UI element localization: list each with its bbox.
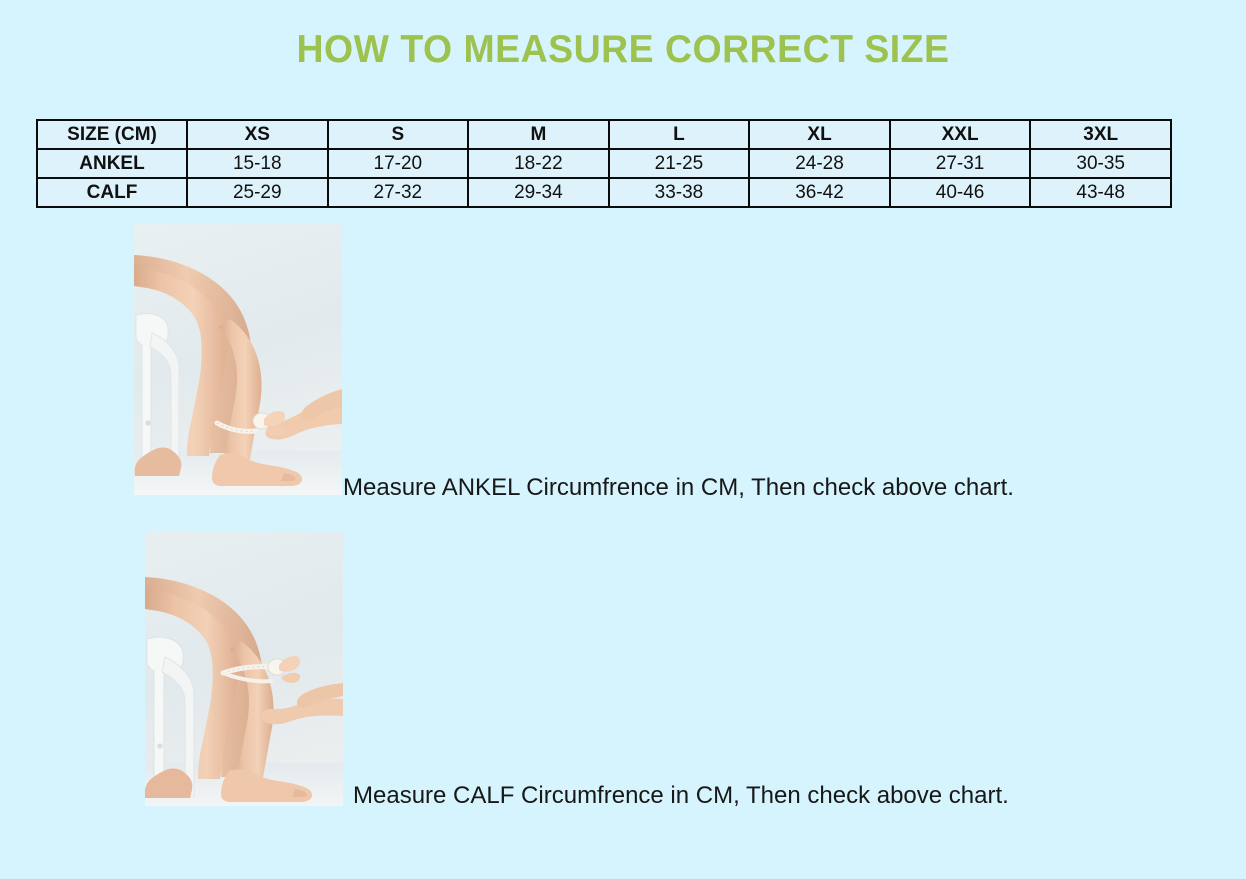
table-row: CALF 25-29 27-32 29-34 33-38 36-42 40-46… bbox=[37, 178, 1171, 207]
cell-calf-3xl: 43-48 bbox=[1030, 178, 1171, 207]
calf-photo-illustration bbox=[145, 531, 343, 806]
calf-measurement-photo bbox=[145, 531, 343, 806]
column-header-s: S bbox=[328, 120, 469, 149]
cell-ankel-xs: 15-18 bbox=[187, 149, 328, 178]
ankle-photo-illustration bbox=[134, 223, 342, 495]
cell-ankel-3xl: 30-35 bbox=[1030, 149, 1171, 178]
cell-calf-m: 29-34 bbox=[468, 178, 609, 207]
column-header-m: M bbox=[468, 120, 609, 149]
column-header-3xl: 3XL bbox=[1030, 120, 1171, 149]
cell-ankel-xl: 24-28 bbox=[749, 149, 890, 178]
table-row: ANKEL 15-18 17-20 18-22 21-25 24-28 27-3… bbox=[37, 149, 1171, 178]
page-title: HOW TO MEASURE CORRECT SIZE bbox=[25, 28, 1221, 72]
column-header-size: SIZE (CM) bbox=[37, 120, 187, 149]
cell-ankel-xxl: 27-31 bbox=[890, 149, 1031, 178]
cell-calf-l: 33-38 bbox=[609, 178, 750, 207]
cell-ankel-s: 17-20 bbox=[328, 149, 469, 178]
ankle-instruction-caption: Measure ANKEL Circumfrence in CM, Then c… bbox=[343, 474, 1014, 502]
row-label-ankel: ANKEL bbox=[37, 149, 187, 178]
column-header-xl: XL bbox=[749, 120, 890, 149]
cell-ankel-l: 21-25 bbox=[609, 149, 750, 178]
cell-ankel-m: 18-22 bbox=[468, 149, 609, 178]
ankle-measurement-photo bbox=[134, 223, 342, 495]
cell-calf-xxl: 40-46 bbox=[890, 178, 1031, 207]
column-header-xs: XS bbox=[187, 120, 328, 149]
calf-instruction-caption: Measure CALF Circumfrence in CM, Then ch… bbox=[353, 782, 1009, 810]
table-header-row: SIZE (CM) XS S M L XL XXL 3XL bbox=[37, 120, 1171, 149]
cell-calf-xs: 25-29 bbox=[187, 178, 328, 207]
column-header-xxl: XXL bbox=[890, 120, 1031, 149]
cell-calf-xl: 36-42 bbox=[749, 178, 890, 207]
size-chart-table: SIZE (CM) XS S M L XL XXL 3XL ANKEL 15-1… bbox=[36, 119, 1172, 208]
row-label-calf: CALF bbox=[37, 178, 187, 207]
cell-calf-s: 27-32 bbox=[328, 178, 469, 207]
column-header-l: L bbox=[609, 120, 750, 149]
